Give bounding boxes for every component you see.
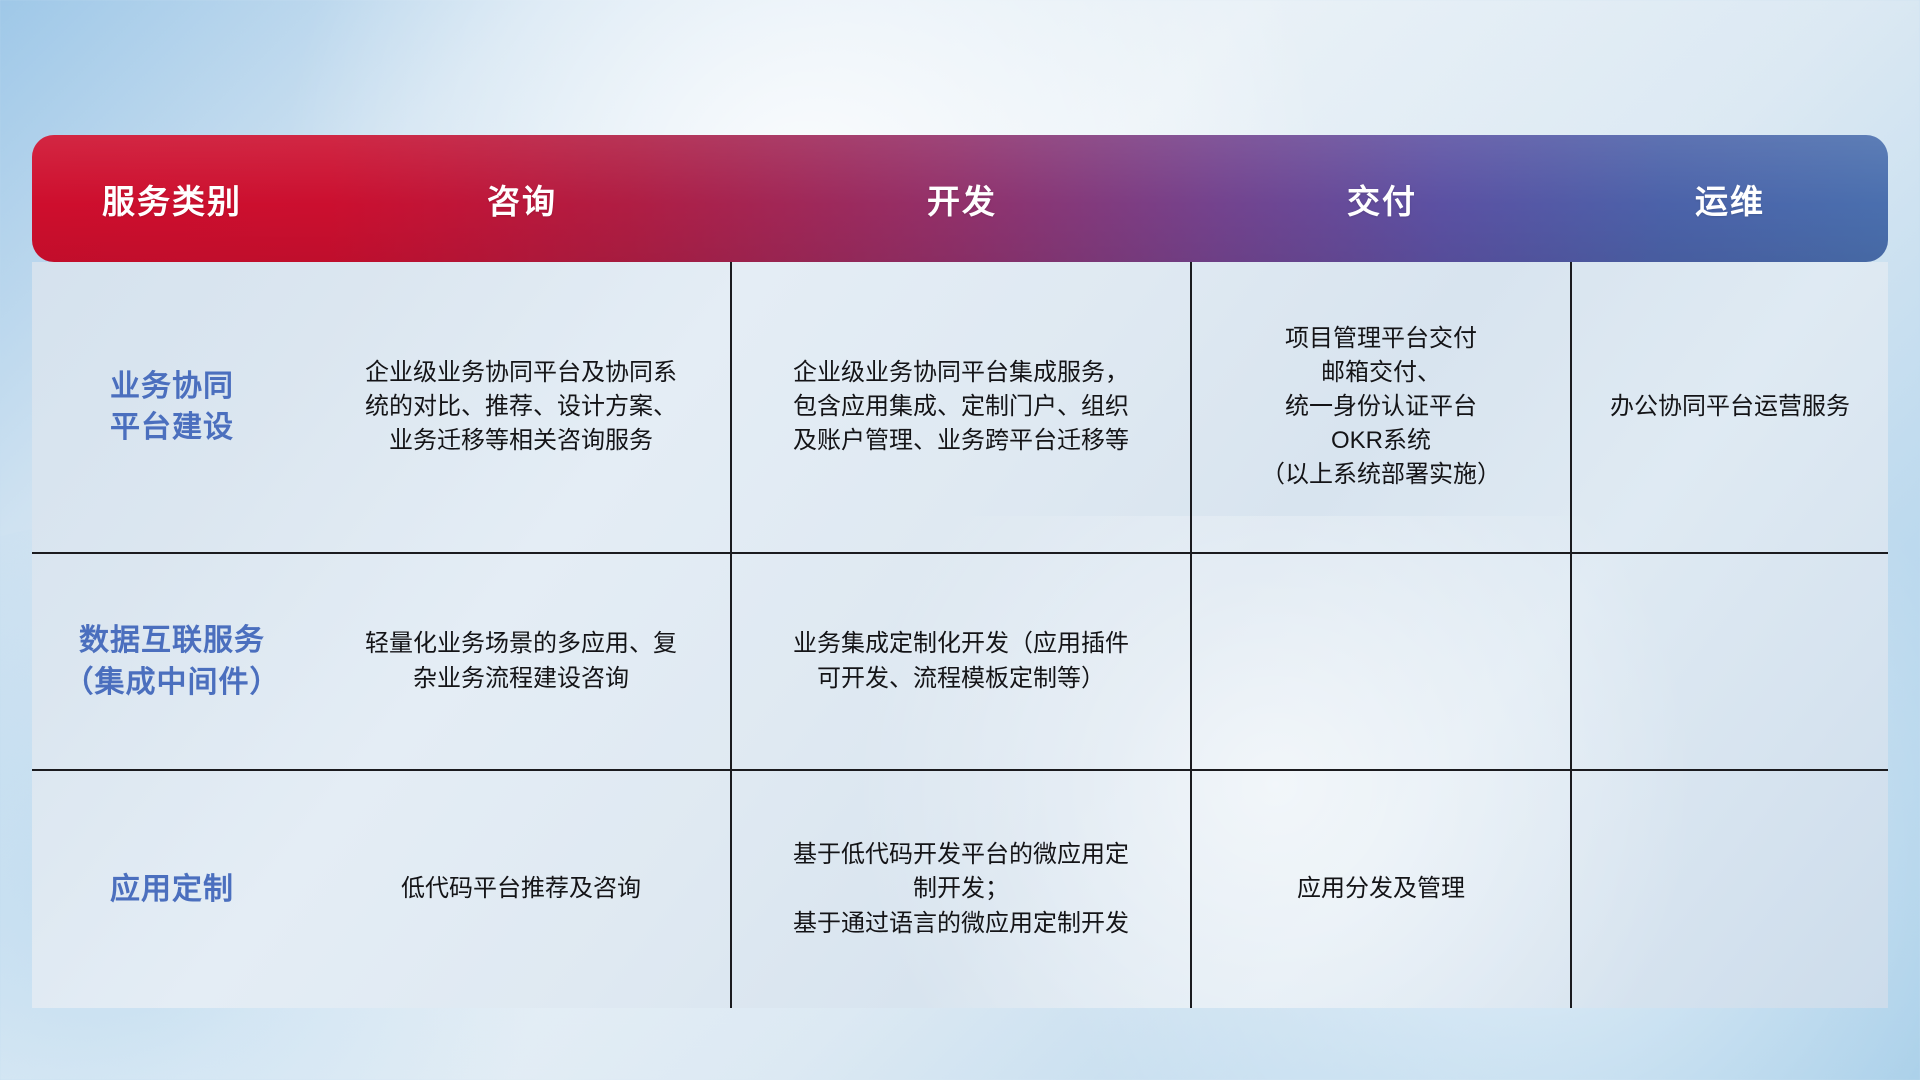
column-header-delivery: 交付 — [1192, 175, 1572, 223]
cell-delivery: 应用分发及管理 — [1192, 771, 1572, 1008]
column-header-category: 服务类别 — [32, 175, 312, 223]
service-matrix-table: 服务类别 咨询 开发 交付 运维 业务协同 平台建设 企业级业务协同平台及协同系… — [32, 135, 1888, 965]
table-body: 业务协同 平台建设 企业级业务协同平台及协同系 统的对比、推荐、设计方案、 业务… — [32, 262, 1888, 1008]
cell-delivery — [1192, 554, 1572, 769]
cell-consulting: 企业级业务协同平台及协同系 统的对比、推荐、设计方案、 业务迁移等相关咨询服务 — [312, 262, 732, 552]
cell-operations — [1572, 771, 1888, 1008]
table-row: 应用定制 低代码平台推荐及咨询 基于低代码开发平台的微应用定 制开发； 基于通过… — [32, 769, 1888, 1008]
table-row: 数据互联服务 （集成中间件） 轻量化业务场景的多应用、复 杂业务流程建设咨询 业… — [32, 552, 1888, 769]
cell-operations: 办公协同平台运营服务 — [1572, 262, 1888, 552]
column-header-consulting: 咨询 — [312, 175, 732, 223]
row-category-label: 应用定制 — [32, 771, 312, 1008]
cell-consulting: 轻量化业务场景的多应用、复 杂业务流程建设咨询 — [312, 554, 732, 769]
column-header-operations: 运维 — [1572, 175, 1888, 223]
cell-development: 基于低代码开发平台的微应用定 制开发； 基于通过语言的微应用定制开发 — [732, 771, 1192, 1008]
cell-delivery: 项目管理平台交付 邮箱交付、 统一身份认证平台 OKR系统 （以上系统部署实施） — [1192, 262, 1572, 552]
table-header-row: 服务类别 咨询 开发 交付 运维 — [32, 135, 1888, 262]
cell-operations — [1572, 554, 1888, 769]
row-category-label: 业务协同 平台建设 — [32, 262, 312, 552]
row-category-label: 数据互联服务 （集成中间件） — [32, 554, 312, 769]
cell-development: 业务集成定制化开发（应用插件 可开发、流程模板定制等） — [732, 554, 1192, 769]
cell-consulting: 低代码平台推荐及咨询 — [312, 771, 732, 1008]
table-row: 业务协同 平台建设 企业级业务协同平台及协同系 统的对比、推荐、设计方案、 业务… — [32, 262, 1888, 552]
column-header-development: 开发 — [732, 175, 1192, 223]
cell-development: 企业级业务协同平台集成服务， 包含应用集成、定制门户、组织 及账户管理、业务跨平… — [732, 262, 1192, 552]
